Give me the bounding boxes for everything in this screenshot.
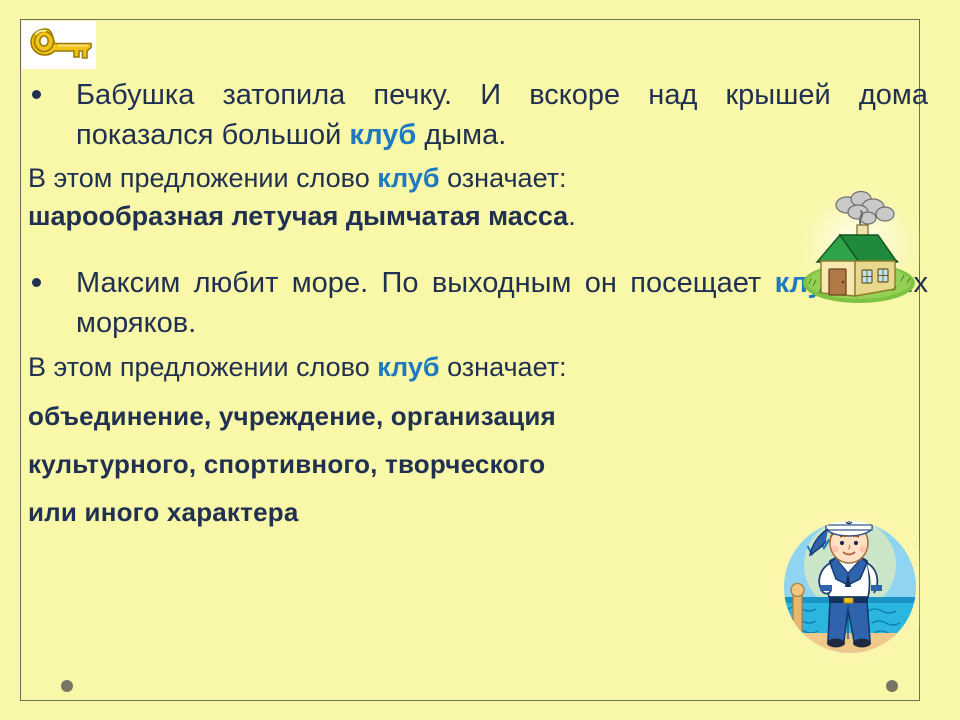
young-sailor-at-sea-image (768, 505, 932, 669)
example-1-question: В этом предложении слово клуб означает: (28, 161, 928, 197)
example-2-answer-line-1: объединение, учреждение, организация (28, 401, 928, 433)
key-icon-glyph (22, 21, 96, 69)
example-2-answer-line-2: культурного, спортивного, творческого (28, 449, 928, 481)
example-2-question-part2: означает: (440, 352, 567, 382)
example-1-answer-period: . (568, 201, 576, 231)
house-with-smoking-chimney-image (795, 183, 923, 307)
example-1-sentence-part2: дыма. (416, 119, 506, 151)
slide-content: Бабушка затопила печку. И вскоре над кры… (28, 76, 928, 528)
example-2-sentence-part1: Максим любит море. По выходным он посеща… (76, 267, 775, 299)
decorative-dot-right (886, 680, 898, 692)
example-1-question-part1: В этом предложении слово (28, 163, 377, 193)
example-2-question-keyword: клуб (377, 352, 439, 382)
example-1-answer: шарообразная летучая дымчатая масса. (28, 199, 928, 234)
example-1-bullet: Бабушка затопила печку. И вскоре над кры… (28, 76, 928, 155)
example-1-question-keyword: клуб (377, 163, 439, 193)
example-1-answer-text: шарообразная летучая дымчатая масса (28, 201, 568, 231)
slide-canvas: Бабушка затопила печку. И вскоре над кры… (0, 0, 960, 720)
key-icon (22, 21, 96, 69)
bullet-dot-icon (32, 90, 41, 99)
example-2-bullet: Максим любит море. По выходным он посеща… (28, 264, 928, 343)
bullet-dot-icon (32, 278, 41, 287)
example-1-sentence: Бабушка затопила печку. И вскоре над кры… (76, 76, 928, 155)
example-1-sentence-keyword: клуб (349, 119, 416, 151)
example-1-question-part2: означает: (440, 163, 567, 193)
example-2-question: В этом предложении слово клуб означает: (28, 350, 928, 386)
decorative-dot-left (61, 680, 73, 692)
section-gap (28, 234, 928, 264)
example-2-question-part1: В этом предложении слово (28, 352, 377, 382)
